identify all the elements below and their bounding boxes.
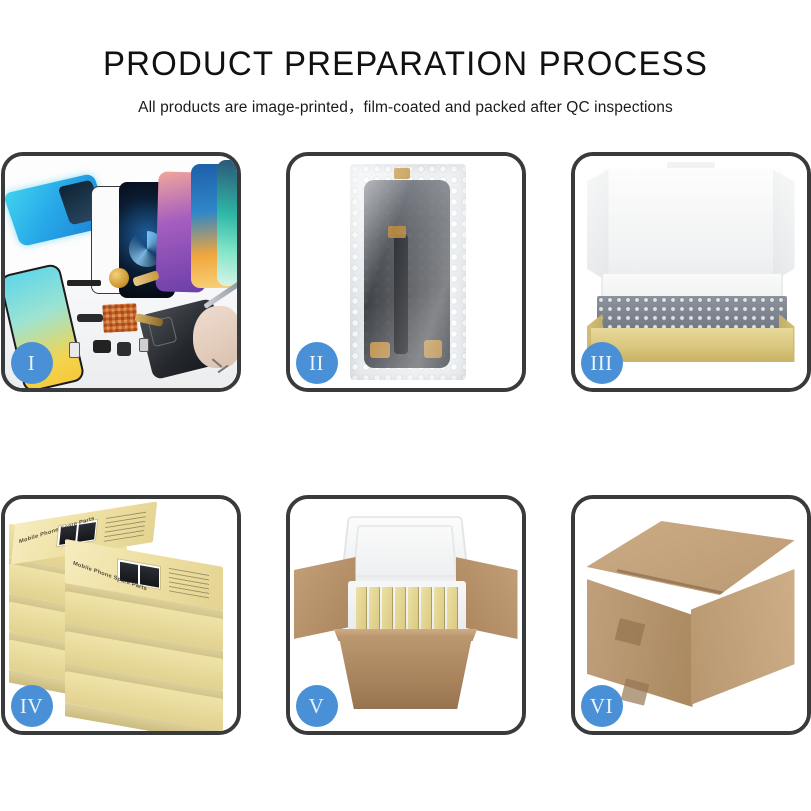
retail-box: [408, 587, 419, 633]
step-badge-6: VI: [581, 685, 623, 727]
retail-box: [447, 587, 458, 633]
step-card-4[interactable]: Mobile Phone Spare Parts Mobile Phone Sp…: [1, 495, 241, 735]
step-badge-3: III: [581, 342, 623, 384]
retail-box: [434, 587, 445, 633]
vibration-motor-icon: [109, 268, 129, 288]
flex-cable-icon: [77, 314, 103, 322]
retail-box: [421, 587, 432, 633]
small-part-icon: [117, 342, 131, 356]
step-badge-5: V: [296, 685, 338, 727]
bubble-wrapped-contents-icon: [597, 296, 787, 332]
step-card-6[interactable]: VI: [571, 495, 811, 735]
packed-boxes-row: [356, 587, 458, 633]
gloss-overlay: [350, 164, 466, 380]
small-part-icon: [93, 340, 111, 353]
retail-box: [395, 587, 406, 633]
header: PRODUCT PREPARATION PROCESS All products…: [0, 0, 811, 117]
page-title: PRODUCT PREPARATION PROCESS: [12, 44, 799, 84]
bubble-wrap-icon: [350, 164, 466, 380]
carton-body-icon: [330, 635, 482, 709]
carton-flap-left-icon: [294, 557, 356, 639]
chip-array-icon: [102, 303, 137, 333]
foam-lid-icon: [339, 516, 470, 589]
step-card-3[interactable]: III: [571, 152, 811, 392]
sim-tray-icon: [69, 342, 80, 358]
step-card-1[interactable]: I: [1, 152, 241, 392]
tape-icon: [620, 678, 649, 705]
step-card-2[interactable]: II: [286, 152, 526, 392]
retail-box: [356, 587, 367, 633]
small-part-icon: [139, 338, 149, 352]
step-card-5[interactable]: V: [286, 495, 526, 735]
box-flap-left-icon: [587, 170, 609, 282]
speaker-bar-icon: [67, 280, 101, 286]
process-steps-grid: I II: [0, 152, 811, 752]
phone-teal-icon: [217, 160, 237, 286]
page-subtitle: All products are image-printed，film-coat…: [0, 95, 811, 117]
step-badge-1: I: [11, 342, 53, 384]
step-badge-2: II: [296, 342, 338, 384]
box-flap-right-icon: [773, 170, 795, 282]
step-badge-4: IV: [11, 685, 53, 727]
retail-box: [382, 587, 393, 633]
infographic-page: PRODUCT PREPARATION PROCESS All products…: [0, 0, 811, 811]
retail-box: [369, 587, 380, 633]
